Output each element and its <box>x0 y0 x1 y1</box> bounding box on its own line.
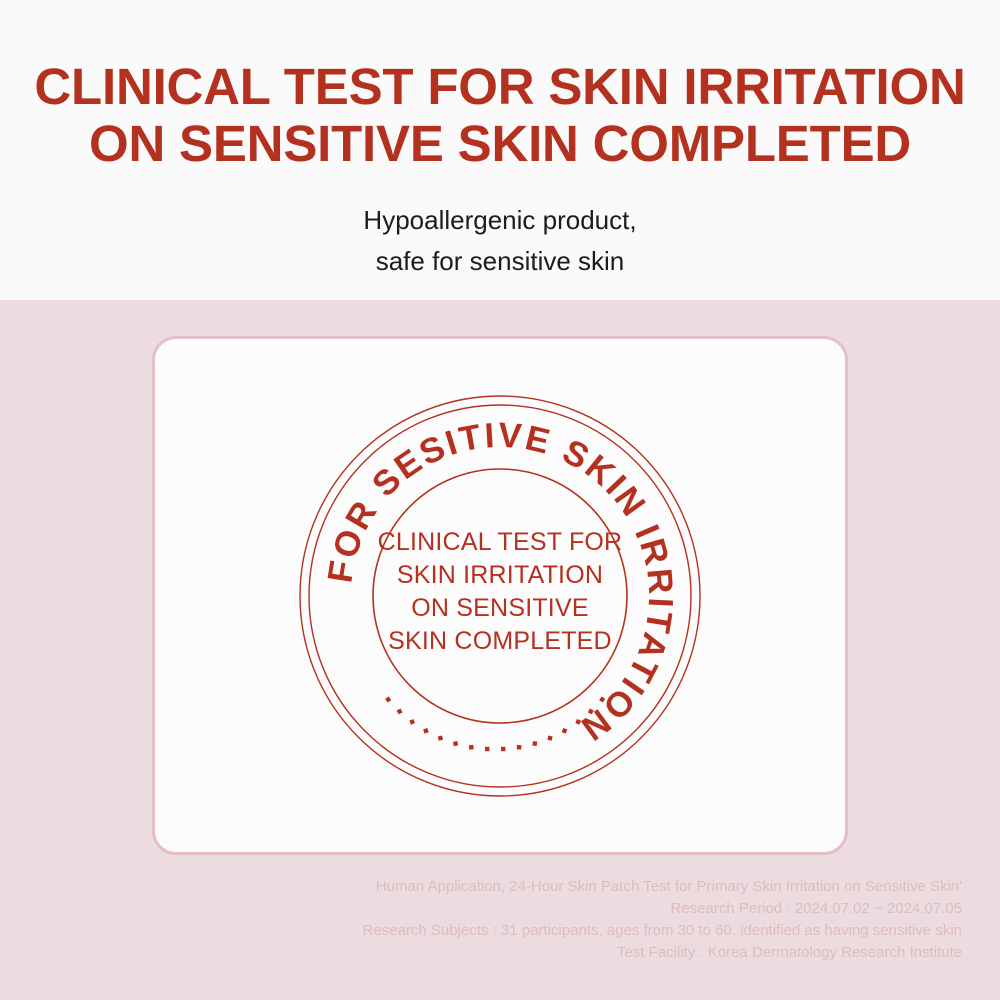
seal-inner-ring <box>373 469 627 723</box>
seal-dot-arc <box>385 696 605 751</box>
footer-line-1: Human Application, 24-Hour Skin Patch Te… <box>202 876 962 898</box>
seal-graphic: TESTED FOR SESITIVE SKIN IRRITATION <box>298 394 702 798</box>
page-subtitle: Hypoallergenic product, safe for sensiti… <box>0 200 1000 282</box>
footer-line-4: Test Facility : Korea Dermatology Resear… <box>202 942 962 964</box>
seal-second-ring <box>309 405 691 787</box>
seal-arc-text: TESTED FOR SESITIVE SKIN IRRITATION <box>298 394 681 749</box>
promo-page: CLINICAL TEST FOR SKIN IRRITATION ON SEN… <box>0 0 1000 1000</box>
page-title: CLINICAL TEST FOR SKIN IRRITATION ON SEN… <box>0 58 1000 172</box>
top-white-band: CLINICAL TEST FOR SKIN IRRITATION ON SEN… <box>0 0 1000 300</box>
certification-seal: TESTED FOR SESITIVE SKIN IRRITATION CLIN… <box>298 394 702 798</box>
seal-outer-ring <box>300 396 700 796</box>
footer-line-3: Research Subjects : 31 participants, age… <box>202 920 962 942</box>
footer-notes: Human Application, 24-Hour Skin Patch Te… <box>202 876 962 964</box>
footer-line-2: Research Period : 2024.07.02 ~ 2024.07.0… <box>202 898 962 920</box>
